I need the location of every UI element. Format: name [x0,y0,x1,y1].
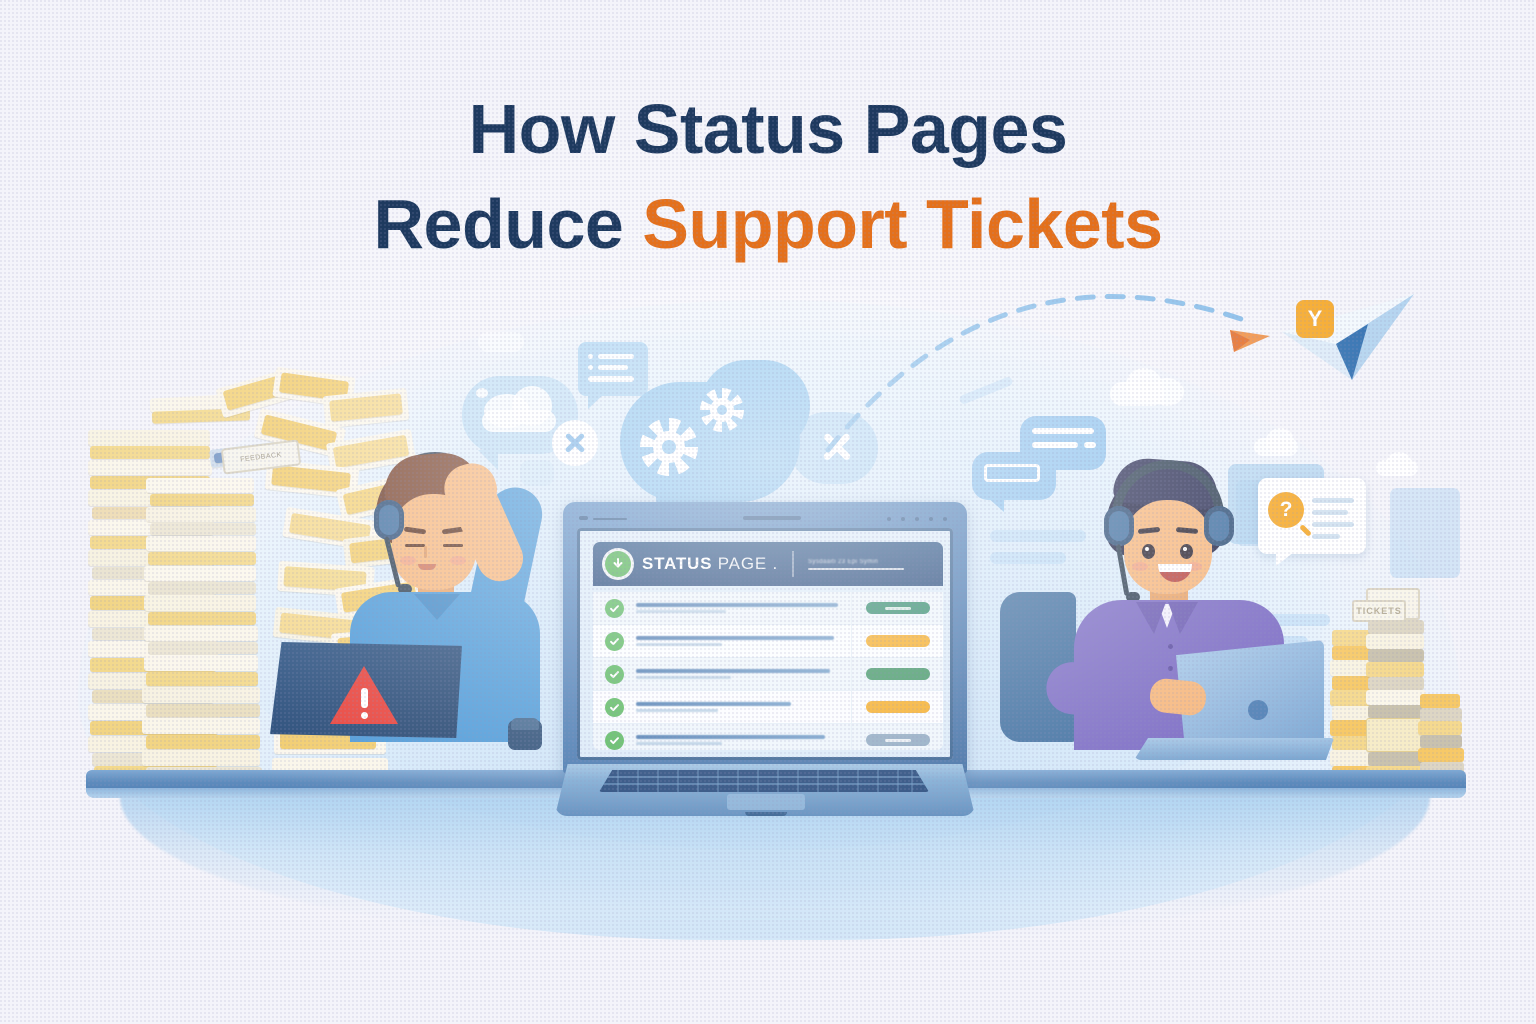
status-badge[interactable] [866,734,930,746]
service-name-placeholder [636,603,838,607]
service-name-placeholder [636,669,830,673]
status-cell [851,691,943,723]
nose [424,546,427,558]
status-row-labels [636,603,851,613]
check-circle-icon [605,632,624,651]
meta-rule [808,568,904,570]
title-line-1: How Status Pages [0,82,1536,177]
warning-exclamation [361,688,368,708]
brand-bold: STATUS [642,554,712,573]
download-circle-icon [605,551,631,577]
service-name-placeholder [636,702,791,706]
warning-dot [361,712,368,719]
status-badge[interactable] [866,602,930,614]
right-pile-label: TICKETS [1352,600,1406,622]
status-row[interactable] [593,592,943,625]
meta-text: Sysdaaiti 23 Epi Symin [808,559,931,565]
header-divider [792,551,794,577]
headphone-cup-left [374,500,404,540]
status-cell [851,625,943,657]
laptop-notch [745,812,787,816]
status-page-header: STATUS PAGE . Sysdaaiti 23 Epi Symin [593,542,943,586]
stressed-support-agent [268,452,568,782]
check-circle-icon [605,698,624,717]
title-line-2-orange: Support Tickets [642,185,1162,263]
service-sub-placeholder [636,742,722,745]
status-row[interactable] [593,691,943,724]
title-line-2-navy: Reduce [373,185,642,263]
check-circle-icon [605,731,624,750]
status-cell [851,658,943,690]
service-name-placeholder [636,636,834,640]
status-row[interactable] [593,724,943,750]
dashed-trajectory-arc [820,260,1340,460]
status-page-meta: Sysdaaiti 23 Epi Symin [808,559,931,570]
status-badge[interactable] [866,635,930,647]
list-chat-bubble-icon [578,342,648,396]
check-circle-icon [605,599,624,618]
cloud-icon [478,332,524,352]
status-badge[interactable] [866,668,930,680]
service-name-placeholder [636,735,825,739]
right-laptop-base [1134,738,1334,760]
status-row[interactable] [593,658,943,691]
center-laptop: STATUS PAGE . Sysdaaiti 23 Epi Symin [555,502,975,822]
status-row-labels [636,669,851,679]
title-line-2: Reduce Support Tickets [0,177,1536,272]
laptop-keyboard [599,770,929,792]
decorative-card [1390,488,1460,578]
service-sub-placeholder [636,676,731,679]
check-circle-icon [605,665,624,684]
status-row[interactable] [593,625,943,658]
brand-light: PAGE . [712,554,778,573]
page-title: How Status Pages Reduce Support Tickets [0,82,1536,272]
service-sub-placeholder [636,643,722,646]
happy-support-agent [1008,452,1328,782]
mouse-top [511,718,539,730]
laptop-trackpad [727,794,805,810]
headphone-cup-right [1204,506,1234,546]
status-row-labels [636,735,851,745]
orange-dart-icon [1228,322,1272,354]
status-cell [851,592,943,624]
service-sub-placeholder [636,709,718,712]
service-sub-placeholder [636,610,726,613]
laptop-screen: STATUS PAGE . Sysdaaiti 23 Epi Symin [577,528,953,760]
status-cell [851,724,943,750]
status-page-title: STATUS PAGE . [642,554,778,574]
status-badge[interactable] [866,701,930,713]
status-row-labels [636,636,851,646]
plane-badge-icon: Y [1296,300,1334,338]
laptop-logo [1248,700,1268,720]
status-row-labels [636,702,851,712]
headphone-cup-left [1104,506,1134,546]
status-page-rows [593,592,943,750]
